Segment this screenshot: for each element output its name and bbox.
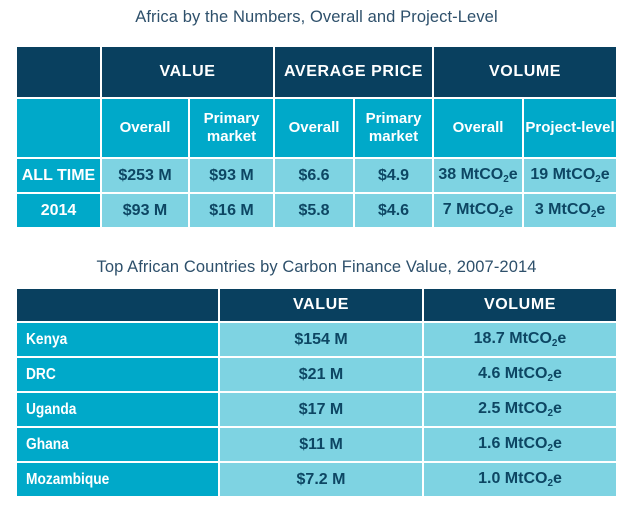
group-header-row: VALUE AVERAGE PRICE VOLUME (17, 47, 616, 99)
country-label-uganda-text: Uganda (26, 401, 76, 419)
country-label-ghana: Ghana (17, 428, 220, 463)
row-label-all-time-text: ALL TIME (22, 167, 95, 184)
cell-all-time-price-overall: $6.6 (275, 159, 355, 194)
volume-suffix: e (553, 470, 562, 487)
cell-2014-value-primary-text: $16 M (209, 202, 253, 219)
country-label-mozambique-text: Mozambique (26, 471, 109, 489)
cell-all-time-value-primary: $93 M (190, 159, 275, 194)
volume-number: 19 MtCO (530, 166, 595, 183)
volume-suffix: e (553, 365, 562, 382)
sub-header-price-overall: Overall (275, 99, 355, 159)
sub-header-volume-project-label: Project-level (525, 119, 614, 136)
cell-ghana-value: $11 M (220, 428, 424, 463)
cell-all-time-value-overall: $253 M (102, 159, 190, 194)
row-label-2014: 2014 (17, 194, 102, 227)
cell-mozambique-value-text: $7.2 M (297, 471, 346, 488)
countries-header-volume-label: VOLUME (484, 296, 556, 313)
volume-suffix: e (601, 166, 610, 183)
cell-all-time-volume-project-text: 19 MtCO2e (530, 166, 609, 183)
sub-header-value-primary: Primary market (190, 99, 275, 159)
sub-header-value-overall: Overall (102, 99, 190, 159)
group-header-value-label: VALUE (159, 63, 215, 80)
sub-header-value-overall-label: Overall (120, 119, 171, 136)
volume-number: 4.6 MtCO (478, 365, 547, 382)
cell-2014-volume-project: 3 MtCO2e (524, 194, 616, 227)
country-label-uganda: Uganda (17, 393, 220, 428)
cell-drc-volume: 4.6 MtCO2e (424, 358, 616, 393)
country-label-kenya: Kenya (17, 323, 220, 358)
cell-all-time-volume-overall-text: 38 MtCO2e (438, 166, 517, 183)
country-label-drc: DRC (17, 358, 220, 393)
cell-mozambique-volume-text: 1.0 MtCO2e (478, 470, 562, 487)
countries-table-title: Top African Countries by Carbon Finance … (0, 258, 633, 277)
volume-number: 3 MtCO (535, 201, 591, 218)
cell-uganda-value: $17 M (220, 393, 424, 428)
volume-suffix: e (553, 435, 562, 452)
sub-header-volume-project: Project-level (524, 99, 616, 159)
row-label-all-time: ALL TIME (17, 159, 102, 194)
volume-number: 38 MtCO (438, 166, 503, 183)
volume-number: 2.5 MtCO (478, 400, 547, 417)
sub-header-price-overall-label: Overall (289, 119, 340, 136)
volume-number: 7 MtCO (443, 201, 499, 218)
sub-header-price-primary: Primary market (355, 99, 434, 159)
cell-ghana-value-text: $11 M (299, 436, 343, 453)
cell-ghana-volume: 1.6 MtCO2e (424, 428, 616, 463)
sub-header-value-primary-label: Primary market (204, 110, 260, 145)
cell-all-time-price-primary-text: $4.9 (378, 167, 409, 184)
group-header-average-price: AVERAGE PRICE (275, 47, 434, 99)
country-label-drc-text: DRC (26, 366, 56, 384)
sub-header-volume-overall-label: Overall (453, 119, 504, 136)
cell-uganda-value-text: $17 M (299, 401, 343, 418)
overview-table-title: Africa by the Numbers, Overall and Proje… (0, 8, 633, 27)
group-header-value: VALUE (102, 47, 275, 99)
country-label-ghana-text: Ghana (26, 436, 69, 454)
cell-uganda-volume: 2.5 MtCO2e (424, 393, 616, 428)
table-row: Mozambique $7.2 M 1.0 MtCO2e (17, 463, 616, 496)
cell-all-time-volume-overall: 38 MtCO2e (434, 159, 524, 194)
countries-header-corner (17, 289, 220, 323)
countries-header-volume: VOLUME (424, 289, 616, 323)
volume-suffix: e (553, 400, 562, 417)
cell-mozambique-value: $7.2 M (220, 463, 424, 496)
group-header-average-price-label: AVERAGE PRICE (284, 63, 423, 80)
group-header-volume: VOLUME (434, 47, 616, 99)
cell-all-time-price-overall-text: $6.6 (298, 167, 329, 184)
cell-all-time-value-primary-text: $93 M (209, 167, 253, 184)
volume-suffix: e (509, 166, 518, 183)
cell-2014-value-overall-text: $93 M (123, 202, 167, 219)
cell-2014-volume-overall: 7 MtCO2e (434, 194, 524, 227)
country-label-kenya-text: Kenya (26, 331, 67, 349)
cell-all-time-volume-project: 19 MtCO2e (524, 159, 616, 194)
cell-kenya-value-text: $154 M (294, 331, 347, 348)
cell-2014-value-primary: $16 M (190, 194, 275, 227)
cell-drc-value-text: $21 M (299, 366, 343, 383)
cell-kenya-value: $154 M (220, 323, 424, 358)
cell-uganda-volume-text: 2.5 MtCO2e (478, 400, 562, 417)
sub-header-volume-overall: Overall (434, 99, 524, 159)
countries-header-row: VALUE VOLUME (17, 289, 616, 323)
volume-suffix: e (596, 201, 605, 218)
table-row: DRC $21 M 4.6 MtCO2e (17, 358, 616, 393)
group-header-corner (17, 47, 102, 99)
table-row: Ghana $11 M 1.6 MtCO2e (17, 428, 616, 463)
row-label-2014-text: 2014 (41, 202, 77, 219)
cell-2014-price-primary: $4.6 (355, 194, 434, 227)
sub-header-corner (17, 99, 102, 159)
volume-number: 18.7 MtCO (474, 330, 552, 347)
cell-kenya-volume-text: 18.7 MtCO2e (474, 330, 567, 347)
volume-number: 1.6 MtCO (478, 435, 547, 452)
cell-2014-value-overall: $93 M (102, 194, 190, 227)
cell-2014-price-overall-text: $5.8 (298, 202, 329, 219)
top-countries-table: VALUE VOLUME Kenya $154 M 18.7 MtCO2e (17, 289, 616, 496)
sub-header-price-primary-label: Primary market (366, 110, 422, 145)
cell-mozambique-volume: 1.0 MtCO2e (424, 463, 616, 496)
countries-header-value-label: VALUE (293, 296, 349, 313)
cell-ghana-volume-text: 1.6 MtCO2e (478, 435, 562, 452)
table-row: Uganda $17 M 2.5 MtCO2e (17, 393, 616, 428)
table-row: 2014 $93 M $16 M $5.8 $4.6 7 MtCO2e (17, 194, 616, 227)
table-row: Kenya $154 M 18.7 MtCO2e (17, 323, 616, 358)
africa-overview-table: VALUE AVERAGE PRICE VOLUME Overall Prima… (17, 47, 616, 227)
countries-header-value: VALUE (220, 289, 424, 323)
cell-drc-value: $21 M (220, 358, 424, 393)
cell-2014-volume-project-text: 3 MtCO2e (535, 201, 605, 218)
cell-drc-volume-text: 4.6 MtCO2e (478, 365, 562, 382)
cell-kenya-volume: 18.7 MtCO2e (424, 323, 616, 358)
cell-2014-price-primary-text: $4.6 (378, 202, 409, 219)
cell-all-time-value-overall-text: $253 M (118, 167, 171, 184)
infographic-page: Africa by the Numbers, Overall and Proje… (0, 0, 633, 526)
volume-suffix: e (557, 330, 566, 347)
country-label-mozambique: Mozambique (17, 463, 220, 496)
volume-number: 1.0 MtCO (478, 470, 547, 487)
cell-all-time-price-primary: $4.9 (355, 159, 434, 194)
cell-2014-volume-overall-text: 7 MtCO2e (443, 201, 513, 218)
volume-suffix: e (504, 201, 513, 218)
group-header-volume-label: VOLUME (489, 63, 561, 80)
sub-header-row: Overall Primary market Overall Primary m… (17, 99, 616, 159)
table-row: ALL TIME $253 M $93 M $6.6 $4.9 38 MtCO2… (17, 159, 616, 194)
cell-2014-price-overall: $5.8 (275, 194, 355, 227)
